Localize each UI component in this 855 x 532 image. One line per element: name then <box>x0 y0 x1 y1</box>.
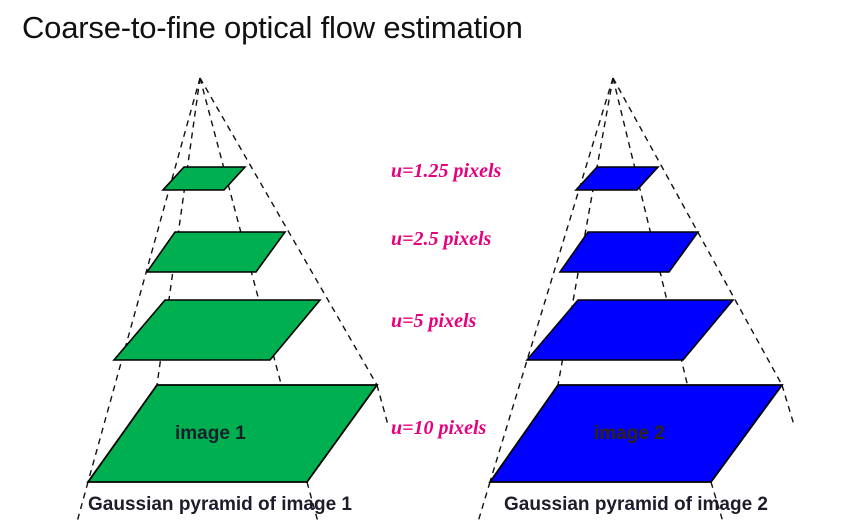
pyramid-1-ext-1 <box>77 482 88 522</box>
pyramid-2-level-2 <box>560 232 698 272</box>
pyramid-1-ext-4 <box>377 385 388 425</box>
pyramid-2-ext-4 <box>782 385 794 425</box>
slide-canvas: Coarse-to-fine optical flow estimation <box>0 0 855 532</box>
coarse-to-fine-pyramid-figure <box>0 0 855 532</box>
pyramid-2-level-3 <box>527 300 733 360</box>
pyramid-image-1 <box>77 78 388 522</box>
base-label-image-1: image 1 <box>175 423 246 445</box>
flow-label-level-4: u=10 pixels <box>391 417 486 440</box>
pyramid-image-2 <box>478 78 794 522</box>
pyramid-1-level-2 <box>147 232 285 272</box>
pyramid-1-level-1 <box>163 167 245 190</box>
pyramid-2-level-1 <box>576 167 658 190</box>
caption-pyramid-2: Gaussian pyramid of image 2 <box>504 494 768 516</box>
base-label-image-2: image 2 <box>594 423 665 445</box>
flow-label-level-1: u=1.25 pixels <box>391 160 501 183</box>
pyramid-1-level-3 <box>114 300 320 360</box>
flow-label-level-2: u=2.5 pixels <box>391 228 491 251</box>
pyramid-2-ext-1 <box>478 482 490 522</box>
flow-label-level-3: u=5 pixels <box>391 310 476 333</box>
caption-pyramid-1: Gaussian pyramid of image 1 <box>88 494 352 516</box>
